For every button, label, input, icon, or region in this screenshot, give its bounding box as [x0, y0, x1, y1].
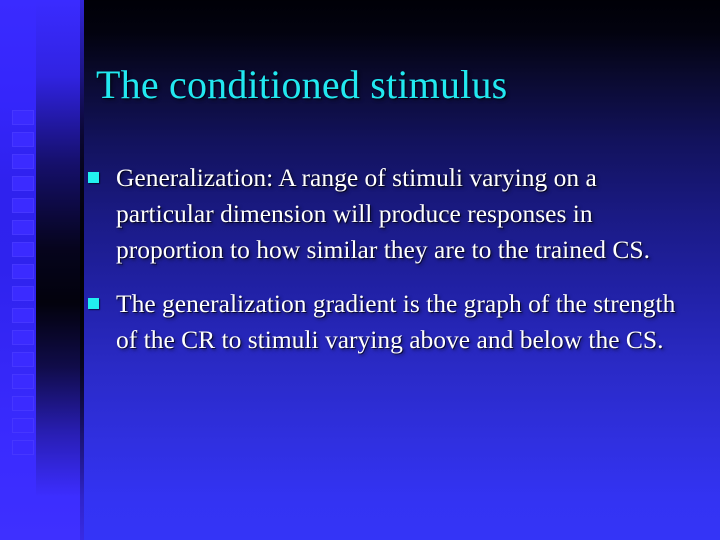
- square-bullet-icon: [88, 172, 99, 183]
- square-bullet-icon: [88, 298, 99, 309]
- slide-body: Generalization: A range of stimuli varyi…: [88, 160, 688, 376]
- filmstrip-square: [12, 286, 34, 301]
- presentation-slide: The conditioned stimulus Generalization:…: [0, 0, 720, 540]
- left-band-shading: [36, 0, 84, 540]
- filmstrip-square: [12, 110, 34, 125]
- filmstrip-square: [12, 198, 34, 213]
- filmstrip-square: [12, 242, 34, 257]
- slide-title: The conditioned stimulus: [96, 62, 696, 108]
- filmstrip-square: [12, 440, 34, 455]
- filmstrip-square: [12, 396, 34, 411]
- list-item: The generalization gradient is the graph…: [88, 286, 688, 358]
- filmstrip-squares: [12, 110, 34, 466]
- filmstrip-square: [12, 220, 34, 235]
- filmstrip-square: [12, 374, 34, 389]
- left-band-seam: [80, 0, 84, 540]
- bullet-text: The generalization gradient is the graph…: [116, 286, 688, 358]
- list-item: Generalization: A range of stimuli varyi…: [88, 160, 688, 268]
- bullet-text: Generalization: A range of stimuli varyi…: [116, 160, 688, 268]
- filmstrip-square: [12, 330, 34, 345]
- filmstrip-square: [12, 154, 34, 169]
- filmstrip-square: [12, 352, 34, 367]
- filmstrip-square: [12, 418, 34, 433]
- filmstrip-square: [12, 308, 34, 323]
- filmstrip-square: [12, 176, 34, 191]
- filmstrip-square: [12, 264, 34, 279]
- filmstrip-square: [12, 132, 34, 147]
